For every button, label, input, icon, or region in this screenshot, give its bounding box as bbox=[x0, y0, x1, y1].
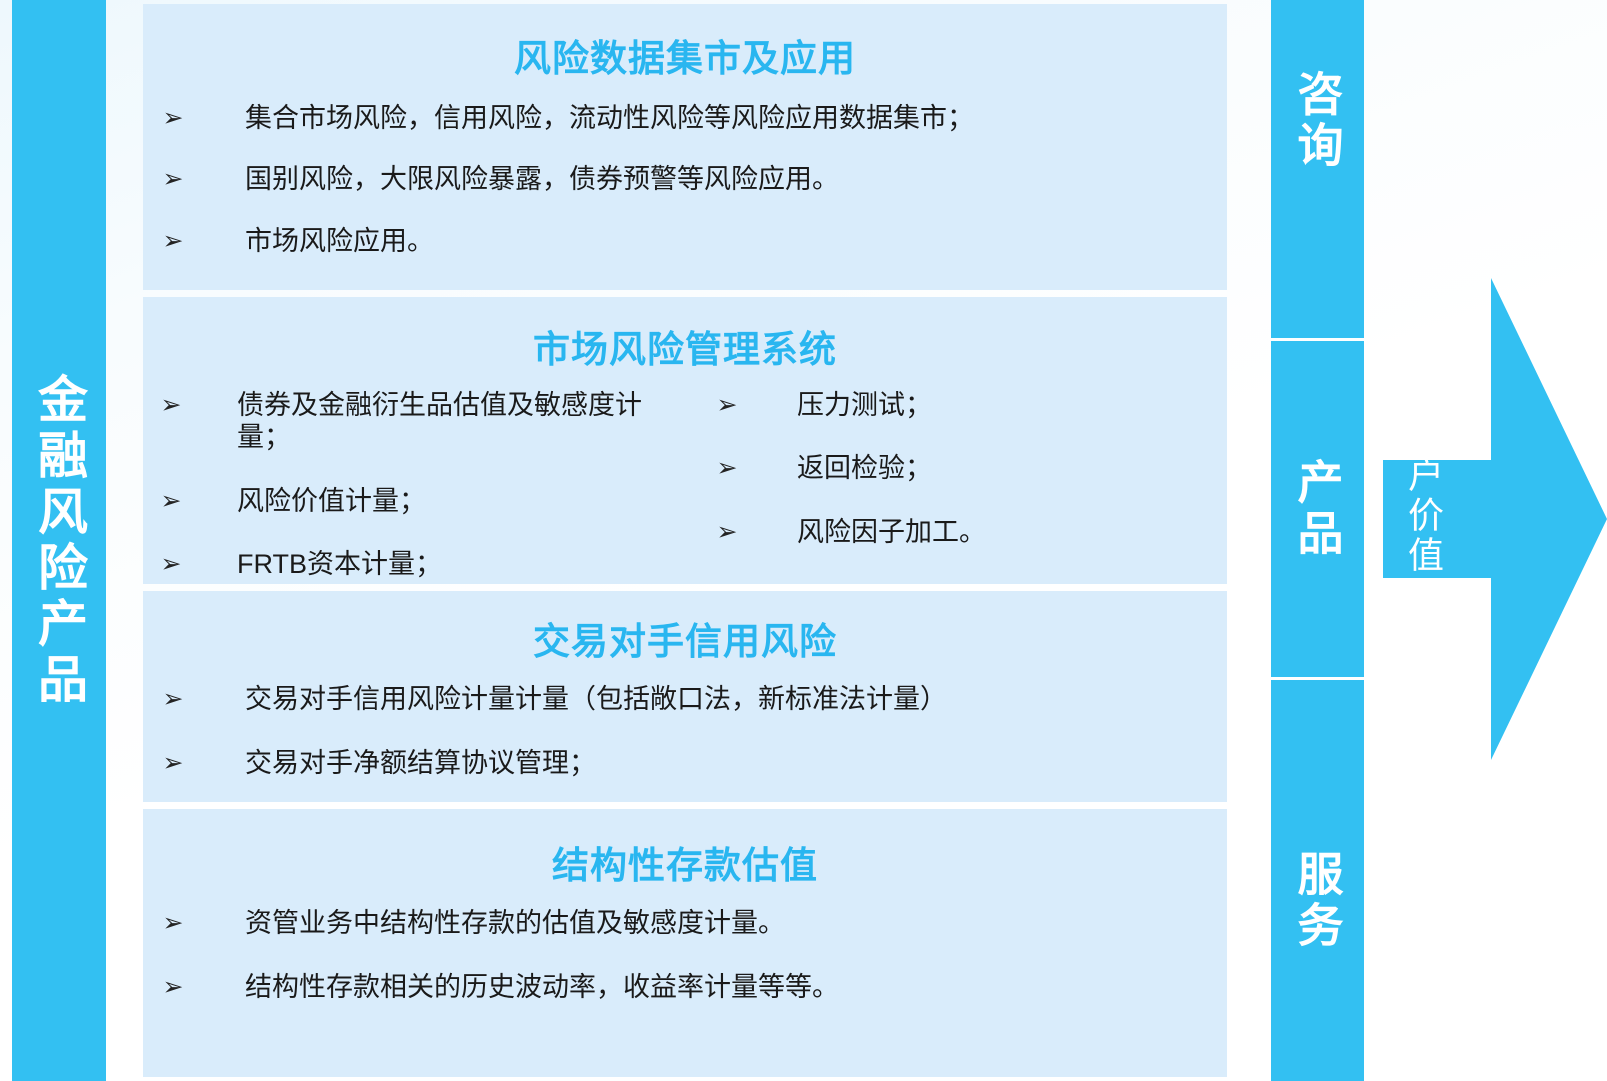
list-item: ➢ 交易对手信用风险计量计量（包括敞口法，新标准法计量） bbox=[159, 683, 1227, 715]
list-item: ➢ 资管业务中结构性存款的估值及敏感度计量。 bbox=[159, 907, 1227, 939]
list-item-text: 市场风险应用。 bbox=[245, 225, 1227, 257]
list-item: ➢ FRTB资本计量； bbox=[157, 548, 685, 580]
card-title: 市场风险管理系统 bbox=[143, 297, 1227, 373]
left-category-label: 金融风险产品 bbox=[34, 373, 84, 709]
left-category-bar: 金融风险产品 bbox=[12, 0, 106, 1081]
card-title: 结构性存款估值 bbox=[143, 809, 1227, 889]
list-item-text: 资管业务中结构性存款的估值及敏感度计量。 bbox=[245, 907, 1227, 939]
arrow-bullet-icon: ➢ bbox=[159, 102, 187, 133]
arrow-bullet-icon: ➢ bbox=[157, 548, 185, 579]
arrow-bullet-icon: ➢ bbox=[157, 485, 185, 516]
list-item-text: 风险价值计量； bbox=[237, 485, 685, 517]
bullet-column-right: ➢ 压力测试； ➢ 返回检验； ➢ 风险因子加工。 bbox=[685, 389, 1227, 612]
arrow-bullet-icon: ➢ bbox=[713, 389, 741, 420]
arrow-bullet-icon: ➢ bbox=[157, 389, 185, 420]
arrow-bullet-icon: ➢ bbox=[159, 683, 187, 714]
card-counterparty-credit-risk: 交易对手信用风险 ➢ 交易对手信用风险计量计量（包括敞口法，新标准法计量） ➢ … bbox=[143, 591, 1227, 802]
bullet-list-two-column: ➢ 债券及金融衍生品估值及敏感度计量； ➢ 风险价值计量； ➢ FRTB资本计量… bbox=[143, 373, 1227, 612]
stage-block-product: 产品 bbox=[1271, 341, 1364, 677]
bullet-list: ➢ 资管业务中结构性存款的估值及敏感度计量。 ➢ 结构性存款相关的历史波动率，收… bbox=[159, 889, 1227, 1004]
list-item-text: 债券及金融衍生品估值及敏感度计量； bbox=[237, 389, 685, 454]
stage-block-consulting: 咨询 bbox=[1271, 0, 1364, 338]
bullet-list: ➢ 交易对手信用风险计量计量（包括敞口法，新标准法计量） ➢ 交易对手净额结算协… bbox=[159, 665, 1227, 780]
content-card-column: 风险数据集市及应用 ➢ 集合市场风险，信用风险，流动性风险等风险应用数据集市； … bbox=[143, 4, 1227, 1077]
card-structured-deposit-valuation: 结构性存款估值 ➢ 资管业务中结构性存款的估值及敏感度计量。 ➢ 结构性存款相关… bbox=[143, 809, 1227, 1077]
arrow-label: 客户价值 bbox=[1405, 416, 1441, 576]
list-item-text: 结构性存款相关的历史波动率，收益率计量等等。 bbox=[245, 971, 1227, 1003]
arrow-bullet-icon: ➢ bbox=[159, 971, 187, 1002]
list-item-text: 返回检验； bbox=[797, 452, 1227, 484]
list-item: ➢ 债券及金融衍生品估值及敏感度计量； bbox=[157, 389, 685, 454]
card-title: 风险数据集市及应用 bbox=[143, 4, 1227, 82]
stage-label: 产品 bbox=[1295, 458, 1341, 560]
list-item-text: 交易对手净额结算协议管理； bbox=[245, 747, 1227, 779]
list-item-text: 压力测试； bbox=[797, 389, 1227, 421]
list-item: ➢ 国别风险，大限风险暴露，债券预警等风险应用。 bbox=[159, 163, 1227, 195]
bullet-list: ➢ 集合市场风险，信用风险，流动性风险等风险应用数据集市； ➢ 国别风险，大限风… bbox=[159, 82, 1227, 257]
customer-value-arrow: 客户价值 bbox=[1383, 278, 1607, 760]
stage-label: 服务 bbox=[1295, 850, 1341, 952]
list-item: ➢ 风险价值计量； bbox=[157, 485, 685, 517]
card-title: 交易对手信用风险 bbox=[143, 591, 1227, 665]
arrow-bullet-icon: ➢ bbox=[159, 225, 187, 256]
arrow-bullet-icon: ➢ bbox=[713, 516, 741, 547]
slide-canvas: 金融风险产品 风险数据集市及应用 ➢ 集合市场风险，信用风险，流动性风险等风险应… bbox=[0, 0, 1607, 1081]
card-market-risk-system: 市场风险管理系统 ➢ 债券及金融衍生品估值及敏感度计量； ➢ 风险价值计量； ➢ bbox=[143, 297, 1227, 584]
stage-label: 咨询 bbox=[1295, 70, 1341, 172]
stage-block-service: 服务 bbox=[1271, 680, 1364, 1081]
list-item: ➢ 市场风险应用。 bbox=[159, 225, 1227, 257]
list-item-text: 交易对手信用风险计量计量（包括敞口法，新标准法计量） bbox=[245, 683, 1227, 715]
list-item-text: FRTB资本计量； bbox=[237, 548, 685, 580]
list-item-text: 国别风险，大限风险暴露，债券预警等风险应用。 bbox=[245, 163, 1227, 195]
bullet-column-left: ➢ 债券及金融衍生品估值及敏感度计量； ➢ 风险价值计量； ➢ FRTB资本计量… bbox=[143, 389, 685, 612]
arrow-bullet-icon: ➢ bbox=[159, 163, 187, 194]
list-item: ➢ 结构性存款相关的历史波动率，收益率计量等等。 bbox=[159, 971, 1227, 1003]
list-item: ➢ 风险因子加工。 bbox=[713, 516, 1227, 548]
card-risk-data-mart: 风险数据集市及应用 ➢ 集合市场风险，信用风险，流动性风险等风险应用数据集市； … bbox=[143, 4, 1227, 290]
list-item: ➢ 返回检验； bbox=[713, 452, 1227, 484]
list-item-text: 风险因子加工。 bbox=[797, 516, 1227, 548]
list-item: ➢ 集合市场风险，信用风险，流动性风险等风险应用数据集市； bbox=[159, 102, 1227, 134]
arrow-bullet-icon: ➢ bbox=[159, 747, 187, 778]
list-item: ➢ 交易对手净额结算协议管理； bbox=[159, 747, 1227, 779]
arrow-bullet-icon: ➢ bbox=[713, 452, 741, 483]
list-item: ➢ 压力测试； bbox=[713, 389, 1227, 421]
arrow-bullet-icon: ➢ bbox=[159, 907, 187, 938]
list-item-text: 集合市场风险，信用风险，流动性风险等风险应用数据集市； bbox=[245, 102, 1227, 134]
